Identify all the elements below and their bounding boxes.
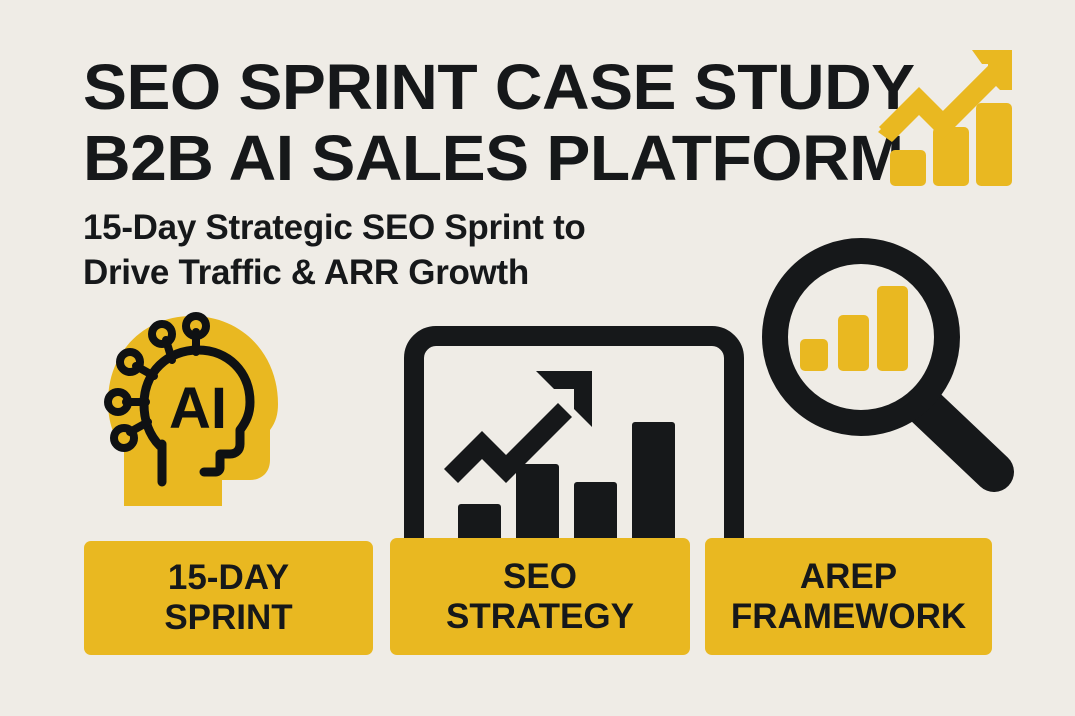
badge-arep-framework[interactable]: AREP FRAMEWORK bbox=[705, 538, 992, 655]
subtitle-line-1: 15-Day Strategic SEO Sprint to bbox=[83, 205, 703, 250]
badge-strategy-line-2: STRATEGY bbox=[446, 597, 634, 637]
badge-framework-line-2: FRAMEWORK bbox=[731, 597, 966, 637]
badge-sprint-line-2: SPRINT bbox=[164, 598, 292, 638]
badge-framework-line-1: AREP bbox=[800, 557, 897, 597]
ai-brain-label: AI bbox=[169, 376, 227, 441]
badge-strategy-line-1: SEO bbox=[503, 557, 577, 597]
page-title: SEO SPRINT CASE STUDY B2B AI SALES PLATF… bbox=[83, 52, 873, 194]
title-line-1: SEO SPRINT CASE STUDY bbox=[83, 52, 897, 123]
badge-15-day-sprint[interactable]: 15-DAY SPRINT bbox=[84, 541, 373, 655]
badge-seo-strategy[interactable]: SEO STRATEGY bbox=[390, 538, 690, 655]
title-line-2: B2B AI SALES PLATFORM bbox=[83, 123, 897, 194]
ai-brain-icon: AI bbox=[100, 310, 290, 510]
badge-sprint-line-1: 15-DAY bbox=[168, 558, 289, 598]
growth-chart-icon bbox=[876, 44, 1016, 192]
page-subtitle: 15-Day Strategic SEO Sprint to Drive Tra… bbox=[83, 205, 703, 295]
monitor-chart-icon bbox=[400, 322, 748, 557]
infographic-canvas: SEO SPRINT CASE STUDY B2B AI SALES PLATF… bbox=[0, 0, 1075, 716]
magnifier-bar-chart-icon bbox=[758, 234, 1016, 492]
subtitle-line-2: Drive Traffic & ARR Growth bbox=[83, 250, 703, 295]
